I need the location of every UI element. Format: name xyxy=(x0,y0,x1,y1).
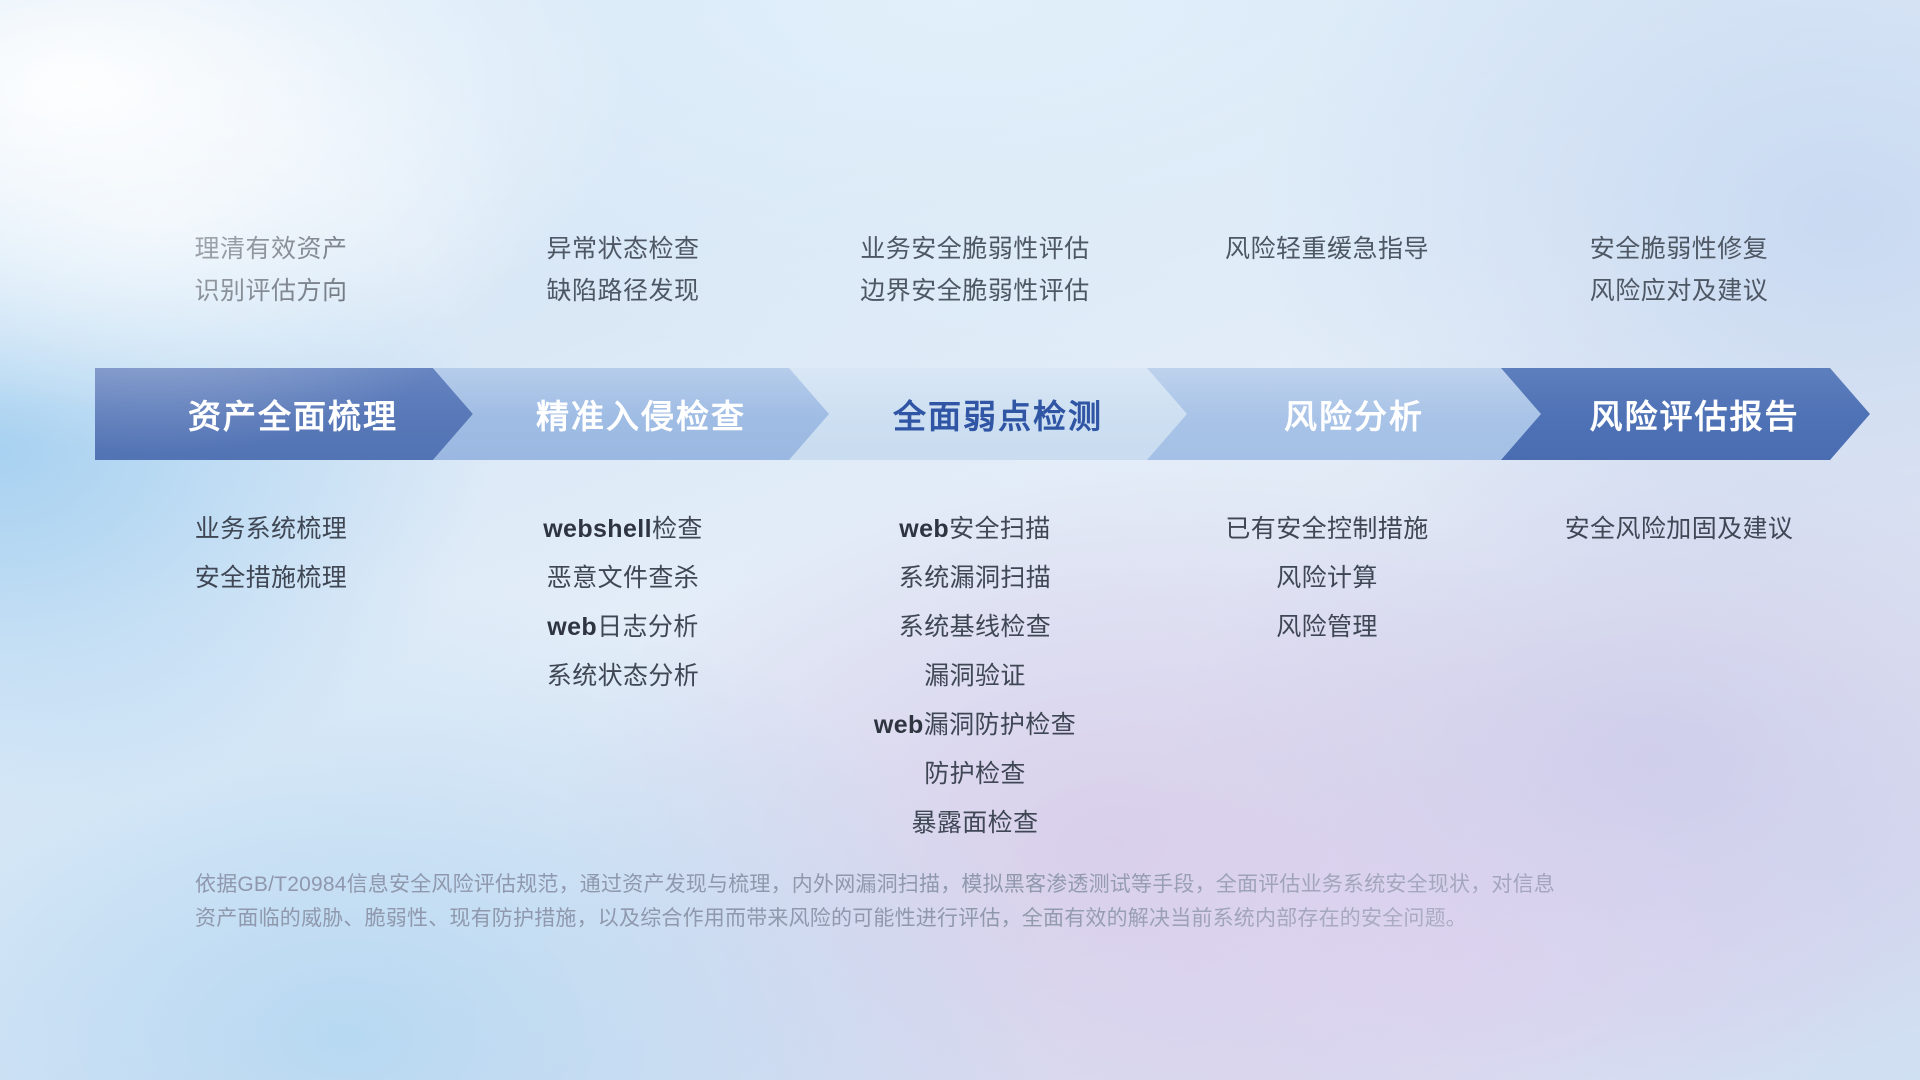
top-item: 风险轻重缓急指导 xyxy=(1159,228,1495,270)
top-item: 缺陷路径发现 xyxy=(455,270,791,312)
bottom-item: web漏洞防护检查 xyxy=(807,701,1143,750)
stage-arrow-label: 精准入侵检查 xyxy=(518,390,746,438)
bottom-item-text: 业务系统梳理 xyxy=(195,515,347,543)
process-diagram: 理清有效资产 识别评估方向 异常状态检查 缺陷路径发现 业务安全脆弱性评估 边界… xyxy=(95,0,1855,1080)
top-item: 安全脆弱性修复 xyxy=(1511,228,1847,270)
bottom-item: 安全风险加固及建议 xyxy=(1511,505,1847,554)
top-item: 理清有效资产 xyxy=(103,228,439,270)
bottom-item-text: 安全扫描 xyxy=(949,515,1051,543)
bottom-item: web安全扫描 xyxy=(807,505,1143,554)
stage-arrow-weakness-detection[interactable]: 全面弱点检测 xyxy=(789,368,1189,460)
top-item: 异常状态检查 xyxy=(455,228,791,270)
bottom-list-asset-inventory: 业务系统梳理 安全措施梳理 xyxy=(95,505,447,848)
bottom-item: 已有安全控制措施 xyxy=(1159,505,1495,554)
bottom-item-text: 漏洞验证 xyxy=(924,662,1026,690)
top-item: 风险应对及建议 xyxy=(1511,270,1847,312)
bottom-item: 安全措施梳理 xyxy=(103,554,439,603)
bottom-item: 防护检查 xyxy=(807,750,1143,799)
bottom-list-risk-analysis: 已有安全控制措施 风险计算 风险管理 xyxy=(1151,505,1503,848)
top-list-risk-report: 安全脆弱性修复 风险应对及建议 xyxy=(1503,228,1855,312)
bottom-item-text: 风险管理 xyxy=(1276,613,1378,641)
stage-arrow-risk-analysis[interactable]: 风险分析 xyxy=(1147,368,1543,460)
bottom-item: 系统基线检查 xyxy=(807,603,1143,652)
stage-arrow-label: 全面弱点检测 xyxy=(875,390,1103,438)
slide-canvas: 理清有效资产 识别评估方向 异常状态检查 缺陷路径发现 业务安全脆弱性评估 边界… xyxy=(0,0,1920,1080)
bottom-item-text: 恶意文件查杀 xyxy=(547,564,699,592)
stage-arrow-label: 风险分析 xyxy=(1266,390,1424,438)
bottom-item: 漏洞验证 xyxy=(807,652,1143,701)
bottom-detail-row: 业务系统梳理 安全措施梳理 webshell检查 恶意文件查杀 web日志分析 … xyxy=(95,505,1855,848)
bottom-item: 恶意文件查杀 xyxy=(455,554,791,603)
footer-description: 依据GB/T20984信息安全风险评估规范，通过资产发现与梳理，内外网漏洞扫描，… xyxy=(195,868,1715,936)
bottom-item: web日志分析 xyxy=(455,603,791,652)
bottom-item: 暴露面检查 xyxy=(807,799,1143,848)
top-list-intrusion-check: 异常状态检查 缺陷路径发现 xyxy=(447,228,799,312)
bottom-item-text: 风险计算 xyxy=(1276,564,1378,592)
top-list-weakness-detection: 业务安全脆弱性评估 边界安全脆弱性评估 xyxy=(799,228,1151,312)
stage-arrow-intrusion-check[interactable]: 精准入侵检查 xyxy=(433,368,831,460)
bottom-item: 业务系统梳理 xyxy=(103,505,439,554)
footer-line-1: 依据GB/T20984信息安全风险评估规范，通过资产发现与梳理，内外网漏洞扫描，… xyxy=(195,868,1715,902)
top-item: 业务安全脆弱性评估 xyxy=(807,228,1143,270)
top-list-asset-inventory: 理清有效资产 识别评估方向 xyxy=(95,228,447,312)
bottom-item: 风险管理 xyxy=(1159,603,1495,652)
bottom-list-weakness-detection: web安全扫描 系统漏洞扫描 系统基线检查 漏洞验证 web漏洞防护检查 防护检… xyxy=(799,505,1151,848)
bottom-item: 系统状态分析 xyxy=(455,652,791,701)
bottom-item-text: 安全措施梳理 xyxy=(195,564,347,592)
top-item: 边界安全脆弱性评估 xyxy=(807,270,1143,312)
bottom-list-risk-report: 安全风险加固及建议 xyxy=(1503,505,1855,848)
bottom-item-prefix: web xyxy=(547,613,597,641)
bottom-item-prefix: web xyxy=(874,711,924,739)
bottom-item-text: 检查 xyxy=(652,515,703,543)
bottom-item-text: 系统基线检查 xyxy=(899,613,1051,641)
bottom-item-prefix: web xyxy=(899,515,949,543)
footer-line-2: 资产面临的威胁、脆弱性、现有防护措施，以及综合作用而带来风险的可能性进行评估，全… xyxy=(195,902,1715,936)
top-descriptions-row: 理清有效资产 识别评估方向 异常状态检查 缺陷路径发现 业务安全脆弱性评估 边界… xyxy=(95,228,1855,312)
bottom-item-text: 暴露面检查 xyxy=(911,809,1038,837)
stage-arrow-label: 风险评估报告 xyxy=(1572,390,1800,438)
stage-arrow-label: 资产全面梳理 xyxy=(170,390,398,438)
bottom-item: 风险计算 xyxy=(1159,554,1495,603)
bottom-item: 系统漏洞扫描 xyxy=(807,554,1143,603)
stage-arrow-band: 资产全面梳理 精准入侵检查 全面弱点检测 风险分析 风险评估报告 xyxy=(95,368,1870,460)
top-list-risk-analysis: 风险轻重缓急指导 xyxy=(1151,228,1503,312)
top-item: 识别评估方向 xyxy=(103,270,439,312)
bottom-item-prefix: webshell xyxy=(543,515,652,543)
stage-arrow-asset-inventory[interactable]: 资产全面梳理 xyxy=(95,368,473,460)
bottom-list-intrusion-check: webshell检查 恶意文件查杀 web日志分析 系统状态分析 xyxy=(447,505,799,848)
bottom-item-text: 系统状态分析 xyxy=(547,662,699,690)
bottom-item-text: 系统漏洞扫描 xyxy=(899,564,1051,592)
bottom-item-text: 已有安全控制措施 xyxy=(1225,515,1428,543)
bottom-item-text: 日志分析 xyxy=(597,613,699,641)
bottom-item-text: 安全风险加固及建议 xyxy=(1565,515,1794,543)
bottom-item-text: 漏洞防护检查 xyxy=(924,711,1076,739)
bottom-item: webshell检查 xyxy=(455,505,791,554)
bottom-item-text: 防护检查 xyxy=(924,760,1026,788)
stage-arrow-risk-report[interactable]: 风险评估报告 xyxy=(1501,368,1870,460)
